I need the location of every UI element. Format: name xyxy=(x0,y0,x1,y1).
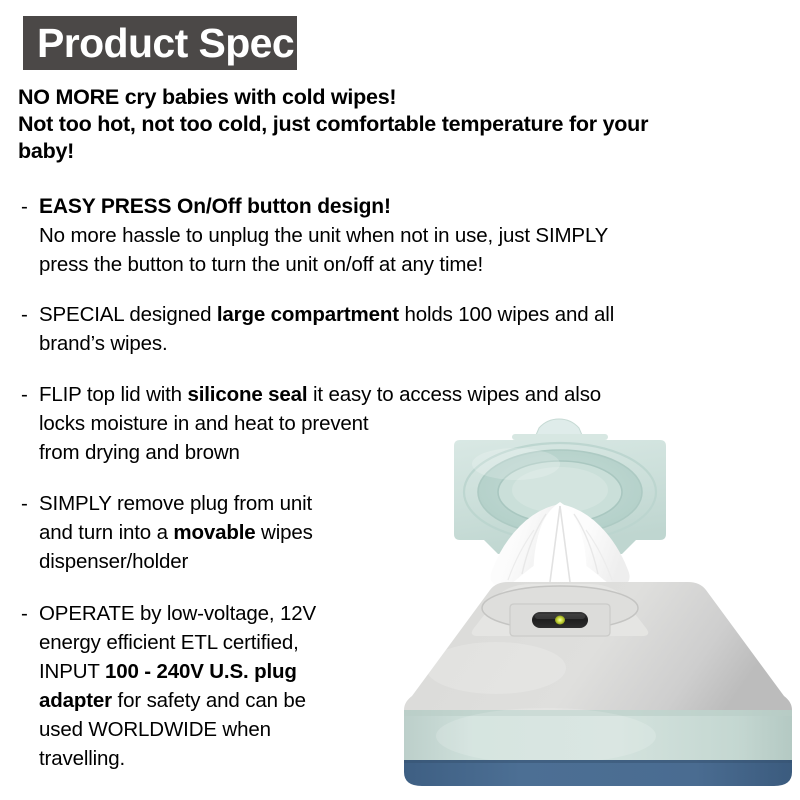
product-image-wipes-warmer xyxy=(396,418,800,800)
text-fragment: wipes xyxy=(256,521,313,544)
bullet-dash: - xyxy=(21,300,28,329)
text-emphasis: movable xyxy=(173,521,255,544)
bullet-dash: - xyxy=(21,599,28,628)
list-item-line-1: FLIP top lid with silicone seal it easy … xyxy=(39,380,739,409)
list-item-line-1: SIMPLY remove plug from unit xyxy=(39,489,409,518)
text-emphasis: adapter xyxy=(39,689,112,712)
text-fragment: and turn into a xyxy=(39,521,173,544)
text-fragment: INPUT xyxy=(39,660,105,683)
text-fragment: it easy to access wipes and also xyxy=(307,383,601,406)
text-emphasis: large compartment xyxy=(217,303,399,326)
list-item-line-2: energy efficient ETL certified, xyxy=(39,628,409,657)
text-fragment: for safety and can be xyxy=(112,689,306,712)
list-item-line-1: OPERATE by low-voltage, 12V xyxy=(39,599,409,628)
led-indicator xyxy=(555,616,565,625)
warmer-top-shell xyxy=(404,582,792,720)
bullet-dash: - xyxy=(21,380,28,409)
list-item-line-6: travelling. xyxy=(39,744,409,773)
list-item-line-3: dispenser/holder xyxy=(39,547,409,576)
list-item-body-line-2: press the button to turn the unit on/off… xyxy=(39,250,788,279)
list-item-line-1: SPECIAL designed large compartment holds… xyxy=(39,300,788,329)
text-emphasis: 100 - 240V U.S. plug xyxy=(105,660,297,683)
header-banner: Product Spec xyxy=(23,16,297,70)
text-fragment: SPECIAL designed xyxy=(39,303,217,326)
bullet-dash: - xyxy=(21,489,28,518)
list-item-line-2: and turn into a movable wipes xyxy=(39,518,409,547)
bullet-dash: - xyxy=(21,192,28,221)
list-item-line-5: used WORLDWIDE when xyxy=(39,715,409,744)
text-fragment: holds 100 wipes and all xyxy=(399,303,614,326)
list-item-large-compartment: - SPECIAL designed large compartment hol… xyxy=(18,300,788,358)
list-item-line-4: adapter for safety and can be xyxy=(39,686,409,715)
power-button xyxy=(532,612,588,628)
subtitle-block: NO MORE cry babies with cold wipes! Not … xyxy=(18,84,758,165)
list-item-movable-dispenser: - SIMPLY remove plug from unit and turn … xyxy=(18,489,409,576)
warmer-base xyxy=(404,760,792,786)
text-emphasis: silicone seal xyxy=(187,383,307,406)
list-item-lead: EASY PRESS On/Off button design! xyxy=(39,192,788,221)
list-item-line-3: INPUT 100 - 240V U.S. plug xyxy=(39,657,409,686)
list-item-operate-voltage: - OPERATE by low-voltage, 12V energy eff… xyxy=(18,599,409,773)
subtitle-line-1: NO MORE cry babies with cold wipes! xyxy=(18,84,758,111)
subtitle-line-3: baby! xyxy=(18,138,758,165)
text-fragment: FLIP top lid with xyxy=(39,383,187,406)
page-title: Product Spec xyxy=(23,23,294,64)
product-spec-page: Product Spec NO MORE cry babies with col… xyxy=(0,0,800,800)
list-item-easy-press: - EASY PRESS On/Off button design! No mo… xyxy=(18,192,788,279)
subtitle-line-2: Not too hot, not too cold, just comforta… xyxy=(18,111,758,138)
list-item-line-2: brand’s wipes. xyxy=(39,329,788,358)
list-item-body-line-1: No more hassle to unplug the unit when n… xyxy=(39,221,788,250)
